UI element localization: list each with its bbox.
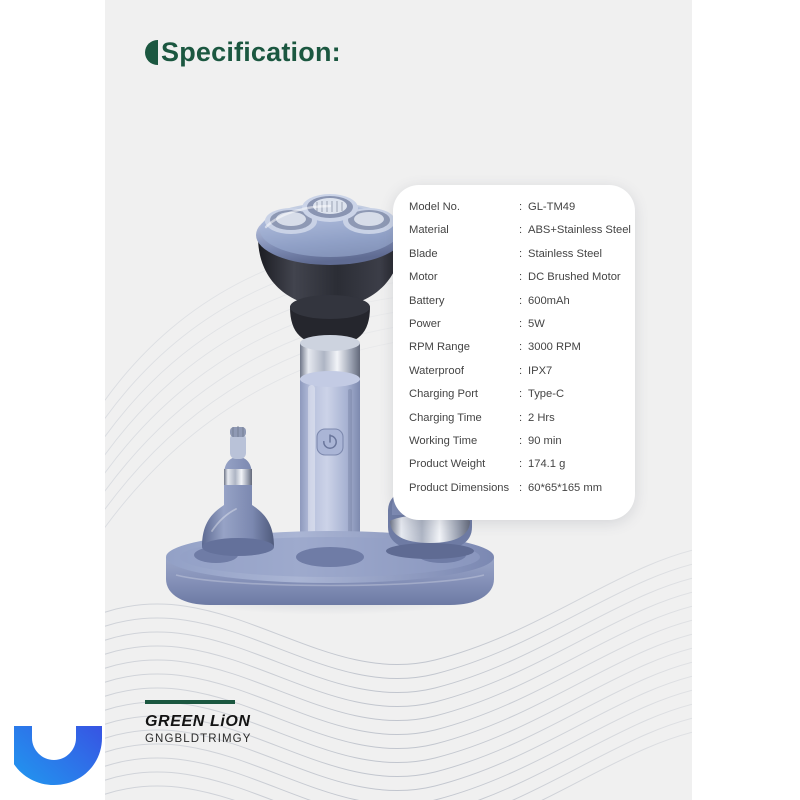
spec-separator: : bbox=[519, 248, 528, 260]
spec-row: Battery : 600mAh bbox=[409, 295, 621, 318]
spec-row: Blade : Stainless Steel bbox=[409, 248, 621, 271]
spec-label: Charging Time bbox=[409, 412, 519, 424]
spec-value: Type-C bbox=[528, 388, 621, 400]
brand-divider bbox=[145, 700, 235, 704]
spec-separator: : bbox=[519, 458, 528, 470]
spec-value: ABS+Stainless Steel bbox=[528, 224, 631, 236]
spec-value: Stainless Steel bbox=[528, 248, 621, 260]
spec-separator: : bbox=[519, 318, 528, 330]
spec-row: Product Dimensions : 60*65*165 mm bbox=[409, 482, 621, 505]
spec-row: Charging Time : 2 Hrs bbox=[409, 412, 621, 435]
spec-row: Motor : DC Brushed Motor bbox=[409, 271, 621, 294]
spec-label: Product Dimensions bbox=[409, 482, 519, 494]
spec-label: RPM Range bbox=[409, 341, 519, 353]
power-button bbox=[317, 429, 343, 455]
spec-value: 2 Hrs bbox=[528, 412, 621, 424]
spec-value: 600mAh bbox=[528, 295, 621, 307]
spec-label: Material bbox=[409, 224, 519, 236]
spec-row: RPM Range : 3000 RPM bbox=[409, 341, 621, 364]
spec-label: Blade bbox=[409, 248, 519, 260]
spec-value: 3000 RPM bbox=[528, 341, 621, 353]
spec-value: 5W bbox=[528, 318, 621, 330]
spec-separator: : bbox=[519, 271, 528, 283]
spec-value: 60*65*165 mm bbox=[528, 482, 621, 494]
spec-row: Waterproof : IPX7 bbox=[409, 365, 621, 388]
rotary-shaver-head bbox=[256, 194, 404, 307]
spec-row: Material : ABS+Stainless Steel bbox=[409, 224, 621, 247]
spec-value: GL-TM49 bbox=[528, 201, 621, 213]
brand-sku-code: GNGBLDTRIMGY bbox=[145, 734, 375, 746]
spec-label: Model No. bbox=[409, 201, 519, 213]
spec-value: 174.1 g bbox=[528, 458, 621, 470]
spec-row: Working Time : 90 min bbox=[409, 435, 621, 458]
spec-separator: : bbox=[519, 412, 528, 424]
specification-card: Model No. : GL-TM49 Material : ABS+Stain… bbox=[393, 185, 635, 520]
spec-label: Power bbox=[409, 318, 519, 330]
spec-label: Battery bbox=[409, 295, 519, 307]
spec-label: Working Time bbox=[409, 435, 519, 447]
spec-value: DC Brushed Motor bbox=[528, 271, 621, 283]
spec-separator: : bbox=[519, 295, 528, 307]
title-marker-icon bbox=[145, 40, 158, 65]
spec-separator: : bbox=[519, 435, 528, 447]
spec-separator: : bbox=[519, 482, 528, 494]
specification-page-sheet: Specification: bbox=[105, 0, 692, 800]
brand-footer: GREEN LiON GNGBLDTRIMGY bbox=[145, 700, 375, 746]
spec-separator: : bbox=[519, 365, 528, 377]
spec-separator: : bbox=[519, 388, 528, 400]
spec-separator: : bbox=[519, 224, 528, 236]
brand-name: GREEN LiON bbox=[145, 714, 375, 730]
spec-separator: : bbox=[519, 201, 528, 213]
spec-label: Motor bbox=[409, 271, 519, 283]
spec-separator: : bbox=[519, 341, 528, 353]
spec-row: Charging Port : Type-C bbox=[409, 388, 621, 411]
spec-label: Waterproof bbox=[409, 365, 519, 377]
spec-label: Charging Port bbox=[409, 388, 519, 400]
spec-row: Product Weight : 174.1 g bbox=[409, 458, 621, 481]
spec-value: IPX7 bbox=[528, 365, 621, 377]
spec-value: 90 min bbox=[528, 435, 621, 447]
green-lion-g-mark-icon bbox=[14, 692, 110, 788]
page-title-text: Specification: bbox=[161, 37, 341, 68]
spec-row: Model No. : GL-TM49 bbox=[409, 201, 621, 224]
page-title: Specification: bbox=[145, 30, 341, 74]
nose-trimmer-attachment bbox=[202, 426, 274, 556]
spec-label: Product Weight bbox=[409, 458, 519, 470]
spec-row: Power : 5W bbox=[409, 318, 621, 341]
